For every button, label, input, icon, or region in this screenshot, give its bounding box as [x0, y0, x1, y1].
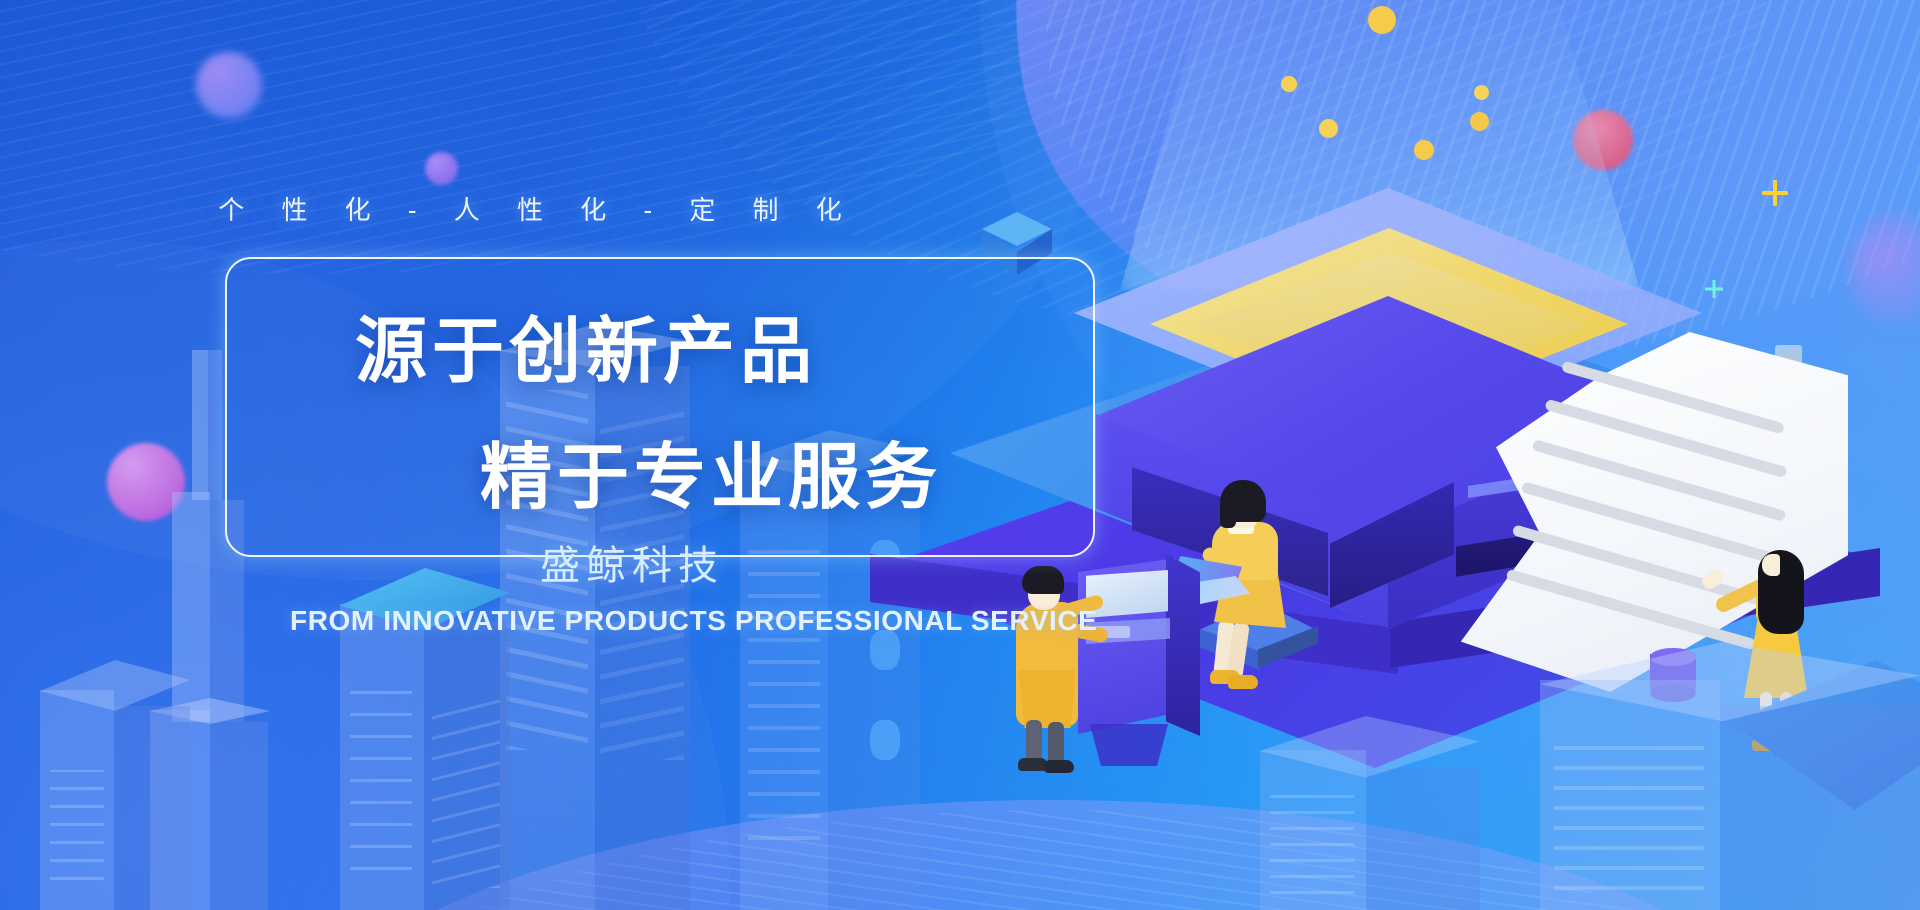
- company-name: 盛鲸科技: [540, 533, 724, 591]
- particle-yellow: [1319, 119, 1338, 138]
- particle-yellow: [1474, 85, 1489, 100]
- frame-fade-top-right: [430, 250, 990, 264]
- hero-copy: 个 性 化 - 人 性 化 - 定 制 化 源于创新产品 精于专业服务 盛鲸科技…: [0, 0, 1150, 910]
- particle-yellow: [1281, 76, 1297, 92]
- hero-banner: 个 性 化 - 人 性 化 - 定 制 化 源于创新产品 精于专业服务 盛鲸科技…: [0, 0, 1920, 910]
- foreground-buildings-right: [1540, 610, 1920, 910]
- subtitle-english: FROM INNOVATIVE PRODUCTS PROFESSIONAL SE…: [290, 605, 1097, 637]
- particle-yellow: [1470, 112, 1489, 131]
- foreground-building-midright: [1260, 710, 1480, 910]
- tagline: 个 性 化 - 人 性 化 - 定 制 化: [0, 190, 1060, 227]
- particle-yellow: [1368, 6, 1396, 34]
- headline-line-2: 精于专业服务: [480, 418, 942, 523]
- headline-line-1: 源于创新产品: [355, 292, 817, 397]
